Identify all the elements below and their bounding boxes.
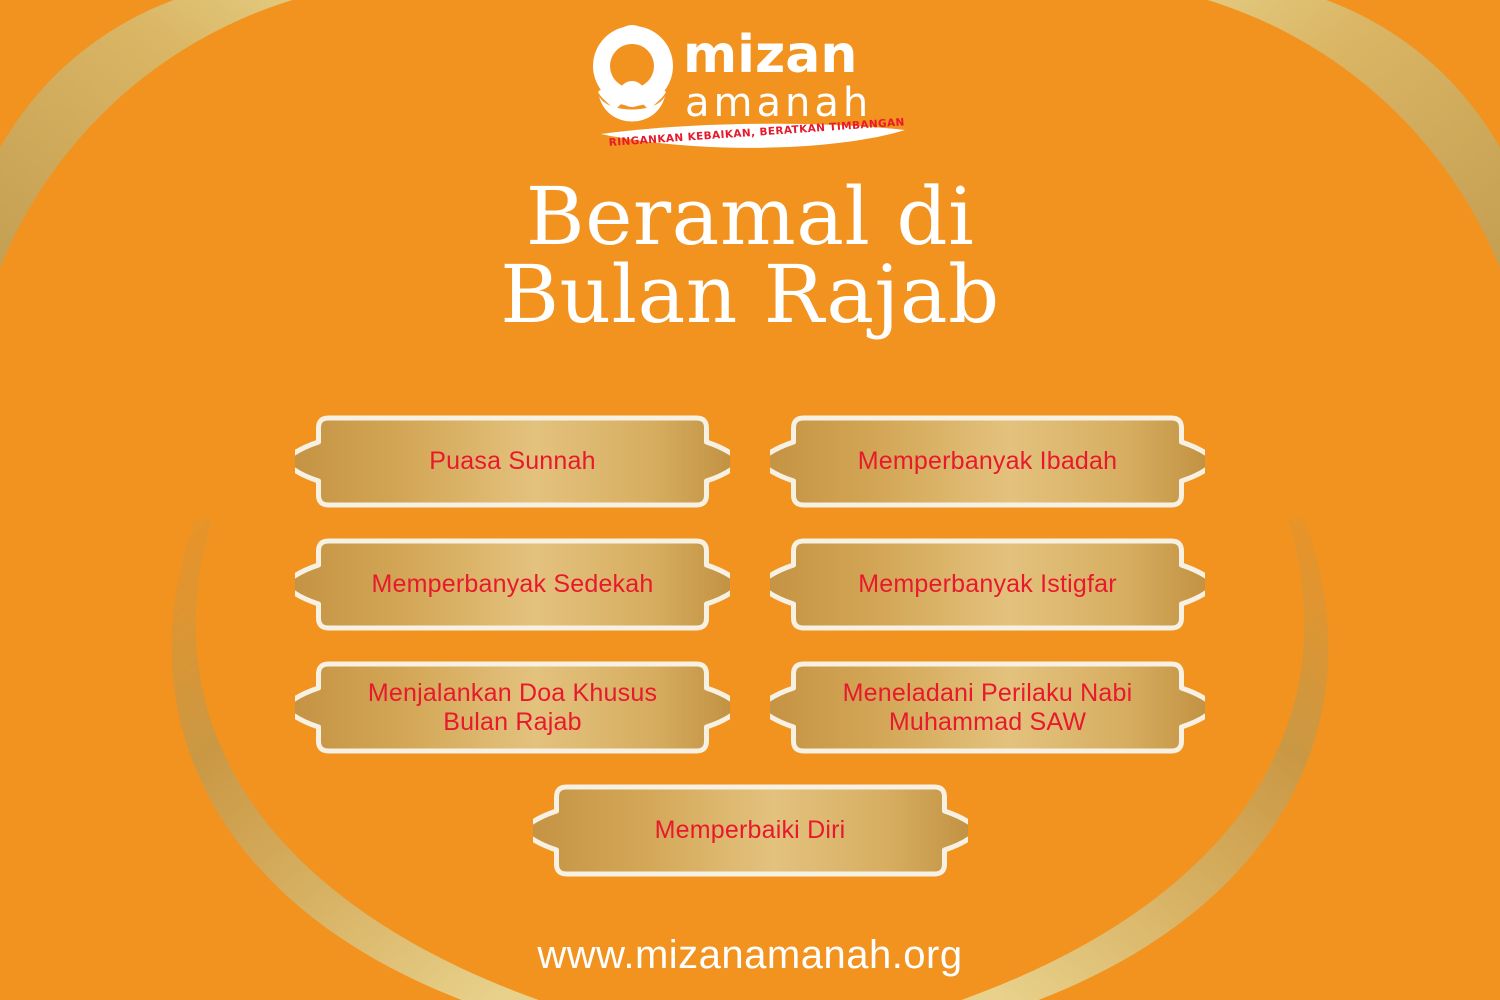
card-memperbanyak-sedekah[interactable]: Memperbanyak Sedekah [295, 537, 730, 632]
brand-logo: mizan amanah RINGANKAN KEBAIKAN, BERATKA… [585, 22, 915, 157]
logo-person-icon [593, 25, 673, 122]
amal-list: Puasa Sunnah Memperbanyak Ibadah Memperb… [0, 414, 1500, 878]
card-label: Memperbanyak Sedekah [326, 570, 700, 599]
card-label: Meneladani Perilaku Nabi Muhammad SAW [797, 679, 1179, 736]
card-memperbanyak-ibadah[interactable]: Memperbanyak Ibadah [770, 414, 1205, 509]
card-row-2: Memperbanyak Sedekah Memperbanyak Istigf… [0, 537, 1500, 632]
card-row-3: Menjalankan Doa Khusus Bulan Rajab Menel… [0, 660, 1500, 755]
logo-wordmark-mizan: mizan [683, 25, 857, 85]
logo-wordmark-amanah: amanah [685, 80, 872, 126]
page-title: Beramal di Bulan Rajab [0, 178, 1500, 335]
card-doa-khusus-bulan-rajab[interactable]: Menjalankan Doa Khusus Bulan Rajab [295, 660, 730, 755]
title-line-2: Bulan Rajab [0, 256, 1500, 334]
card-puasa-sunnah[interactable]: Puasa Sunnah [295, 414, 730, 509]
card-row-4: Memperbaiki Diri [0, 783, 1500, 878]
card-label: Memperbaiki Diri [609, 816, 892, 845]
card-label: Puasa Sunnah [383, 447, 641, 476]
card-row-1: Puasa Sunnah Memperbanyak Ibadah [0, 414, 1500, 509]
website-url[interactable]: www.mizanamanah.org [0, 933, 1500, 978]
card-label: Memperbanyak Istigfar [812, 570, 1162, 599]
card-label: Menjalankan Doa Khusus Bulan Rajab [322, 679, 703, 736]
title-line-1: Beramal di [0, 178, 1500, 256]
card-meneladani-perilaku-nabi[interactable]: Meneladani Perilaku Nabi Muhammad SAW [770, 660, 1205, 755]
poster-canvas: mizan amanah RINGANKAN KEBAIKAN, BERATKA… [0, 0, 1500, 1000]
card-label: Memperbanyak Ibadah [812, 447, 1164, 476]
card-memperbanyak-istigfar[interactable]: Memperbanyak Istigfar [770, 537, 1205, 632]
card-memperbaiki-diri[interactable]: Memperbaiki Diri [533, 783, 968, 878]
